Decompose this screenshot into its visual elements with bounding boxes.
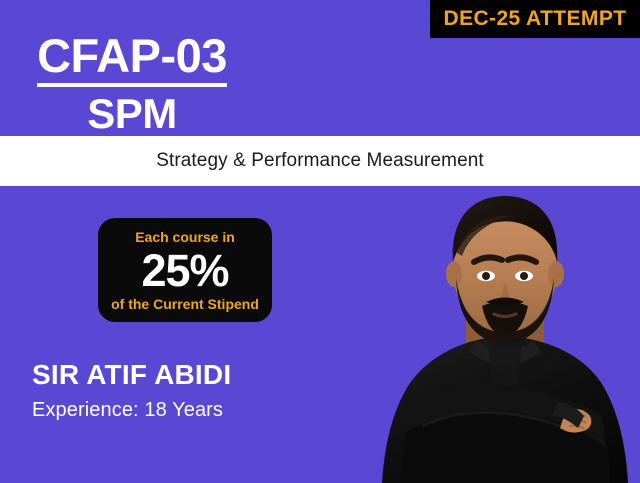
instructor-photo xyxy=(370,186,640,483)
course-code: CFAP-03 xyxy=(37,30,227,87)
offer-percent-value: 25% xyxy=(141,247,228,295)
offer-top-line: Each course in xyxy=(135,229,235,245)
course-code-block: CFAP-03 SPM xyxy=(20,30,244,137)
attempt-badge-label: DEC-25 ATTEMPT xyxy=(444,7,627,31)
course-short-name: SPM xyxy=(20,91,244,137)
offer-card: Each course in 25% of the Current Stipen… xyxy=(98,218,272,322)
course-subtitle-band: Strategy & Performance Measurement xyxy=(0,136,640,186)
course-promo-poster: DEC-25 ATTEMPT CFAP-03 SPM xyxy=(0,0,640,483)
instructor-portrait-illustration xyxy=(370,186,640,483)
instructor-experience: Experience: 18 Years xyxy=(32,398,231,422)
attempt-badge: DEC-25 ATTEMPT xyxy=(430,0,640,38)
course-full-title: Strategy & Performance Measurement xyxy=(156,150,484,172)
instructor-name: SIR ATIF ABIDI xyxy=(32,358,231,392)
offer-bottom-line: of the Current Stipend xyxy=(111,296,259,312)
instructor-block: SIR ATIF ABIDI Experience: 18 Years xyxy=(32,358,231,422)
